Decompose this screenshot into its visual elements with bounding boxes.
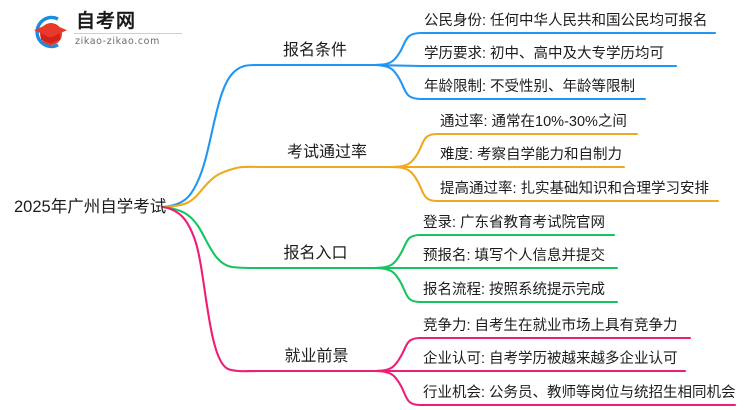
leaf-label-2-0: 登录: 广东省教育考试院官网 — [423, 213, 605, 233]
branch-to-leaf-line-1-2 — [392, 167, 437, 201]
leaf-label-0-2: 年龄限制: 不受性别、年龄等限制 — [424, 77, 635, 97]
leaf-label-1-1: 难度: 考察自学能力和自制力 — [440, 145, 622, 165]
branch-to-leaf-line-3-2 — [375, 371, 420, 405]
branch-to-leaf-line-0-0 — [374, 33, 421, 65]
branch-label-0: 报名条件 — [256, 40, 374, 62]
branch-to-leaf-line-1-0 — [392, 134, 437, 167]
leaf-label-0-1: 学历要求: 初中、高中及大专学历均可 — [424, 44, 664, 64]
branch-to-leaf-line-0-2 — [374, 65, 421, 99]
site-logo: 自考网 zikao-zikao.com — [28, 10, 188, 54]
leaf-label-2-1: 预报名: 填写个人信息并提交 — [423, 246, 605, 266]
branch-to-leaf-line-0-1 — [374, 65, 421, 66]
logo-url: zikao-zikao.com — [75, 35, 160, 48]
branch-to-leaf-line-2-0 — [375, 235, 420, 268]
leaf-label-1-0: 通过率: 通常在10%-30%之间 — [440, 112, 627, 132]
leaf-label-3-2: 行业机会: 公务员、教师等岗位与统招生相同机会 — [423, 383, 736, 403]
logo-name: 自考网 — [76, 11, 136, 32]
leaf-label-0-0: 公民身份: 任何中华人民共和国公民均可报名 — [424, 11, 708, 31]
root-to-branch-line-1 — [163, 167, 262, 207]
leaf-label-2-2: 报名流程: 按照系统提示完成 — [423, 280, 605, 300]
root-to-branch-line-0 — [163, 65, 256, 207]
branch-label-1: 考试通过率 — [262, 142, 392, 164]
root-to-branch-line-3 — [163, 207, 258, 371]
leaf-label-3-1: 企业认可: 自考学历被越来越多企业认可 — [423, 349, 678, 369]
logo-divider — [74, 33, 182, 34]
branch-label-3: 就业前景 — [258, 346, 375, 368]
root-to-branch-line-2 — [163, 207, 256, 268]
leaf-label-3-0: 竞争力: 自考生在就业市场上具有竞争力 — [423, 316, 678, 336]
branch-label-2: 报名入口 — [256, 243, 375, 265]
leaf-label-1-2: 提高通过率: 扎实基础知识和合理学习安排 — [440, 179, 709, 199]
graduation-cap-icon — [28, 12, 70, 52]
mindmap-canvas: 自考网 zikao-zikao.com 2025年广州自学考试 报名条件 考试通… — [0, 0, 750, 410]
root-node-label: 2025年广州自学考试 — [14, 196, 166, 218]
branch-to-leaf-line-3-0 — [375, 338, 420, 371]
branch-to-leaf-line-2-2 — [375, 268, 420, 302]
